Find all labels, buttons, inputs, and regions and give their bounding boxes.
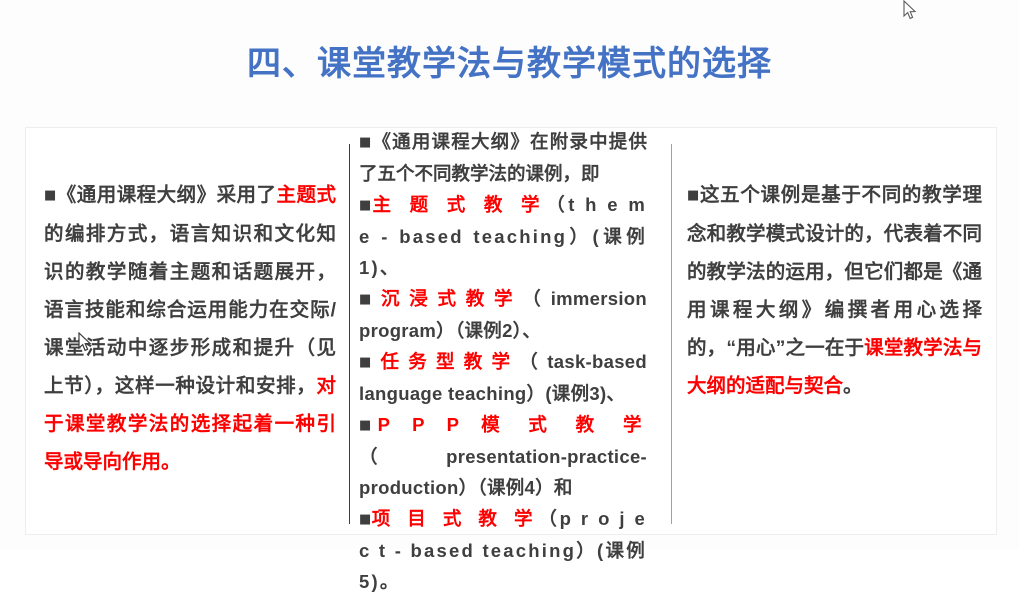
left-text-part1: 《通用课程大纲》采用了	[57, 184, 277, 206]
middle-intro-paragraph: ■《通用课程大纲》在附录中提供了五个不同教学法的课例，即	[359, 126, 647, 189]
content-frame: ■《通用课程大纲》采用了主题式的编排方式，语言知识和文化知识的教学随着主题和话题…	[25, 127, 997, 535]
left-text-part2: 的编排方式，语言知识和文化知识的教学随着主题和话题展开，语言技能和综合运用能力在…	[44, 223, 336, 397]
middle-list-item: ■沉浸式教学（immersion program）（课例2）、	[359, 283, 647, 346]
bullet-icon: ■	[359, 418, 378, 433]
slide-title: 四、课堂教学法与教学模式的选择	[0, 40, 1019, 88]
method-name-project-based: 项 目 式 教 学	[372, 508, 539, 529]
method-name-ppp: P P P 模 式 教 学	[378, 414, 647, 435]
bullet-icon: ■	[687, 188, 700, 203]
method-name-immersion: 沉浸式教学	[381, 288, 522, 309]
column-left: ■《通用课程大纲》采用了主题式的编排方式，语言知识和文化知识的教学随着主题和话题…	[26, 128, 349, 534]
right-paragraph-block: ■这五个课例是基于不同的教学理念和教学模式设计的，代表着不同的教学法的运用，但它…	[687, 176, 982, 405]
left-text-highlight1: 主题式	[277, 184, 336, 206]
bullet-icon: ■	[359, 292, 381, 307]
left-paragraph: ■《通用课程大纲》采用了主题式的编排方式，语言知识和文化知识的教学随着主题和话题…	[44, 176, 336, 481]
bullet-icon: ■	[359, 355, 381, 370]
bullet-icon: ■	[359, 135, 372, 150]
middle-list-item: ■任务型教学（task-based language teaching）(课例3…	[359, 346, 647, 409]
method-name-task-based: 任务型教学	[381, 351, 520, 372]
three-column-layout: ■《通用课程大纲》采用了主题式的编排方式，语言知识和文化知识的教学随着主题和话题…	[26, 128, 996, 534]
method-english-ppp: （presentation-practice-production）（课例4）和	[359, 446, 647, 498]
column-right: ■这五个课例是基于不同的教学理念和教学模式设计的，代表着不同的教学法的运用，但它…	[671, 128, 996, 534]
arrow-cursor-top-right	[903, 0, 917, 21]
bullet-icon: ■	[359, 198, 373, 213]
right-paragraph: ■这五个课例是基于不同的教学理念和教学模式设计的，代表着不同的教学法的运用，但它…	[687, 176, 982, 405]
bullet-icon: ■	[44, 188, 57, 203]
middle-list-item: ■项 目 式 教 学（p r o j e c t - based teachin…	[359, 503, 647, 597]
column-middle: ■《通用课程大纲》在附录中提供了五个不同教学法的课例，即 ■主 题 式 教 学（…	[349, 128, 671, 534]
right-text-part2: 。	[843, 375, 863, 397]
middle-list-item: ■P P P 模 式 教 学（presentation-practice-pro…	[359, 409, 647, 503]
middle-intro-text: 《通用课程大纲》在附录中提供了五个不同教学法的课例，即	[359, 131, 647, 184]
middle-list-block: ■《通用课程大纲》在附录中提供了五个不同教学法的课例，即 ■主 题 式 教 学（…	[359, 126, 647, 597]
bullet-icon: ■	[359, 512, 372, 527]
middle-list-item: ■主 题 式 教 学（t h e m e - based teaching）(课…	[359, 189, 647, 283]
method-name-theme-based: 主 题 式 教 学	[373, 194, 547, 215]
right-text-part1: 这五个课例是基于不同的教学理念和教学模式设计的，代表着不同的教学法的运用，但它们…	[687, 184, 982, 359]
left-paragraph-block: ■《通用课程大纲》采用了主题式的编排方式，语言知识和文化知识的教学随着主题和话题…	[44, 176, 336, 481]
